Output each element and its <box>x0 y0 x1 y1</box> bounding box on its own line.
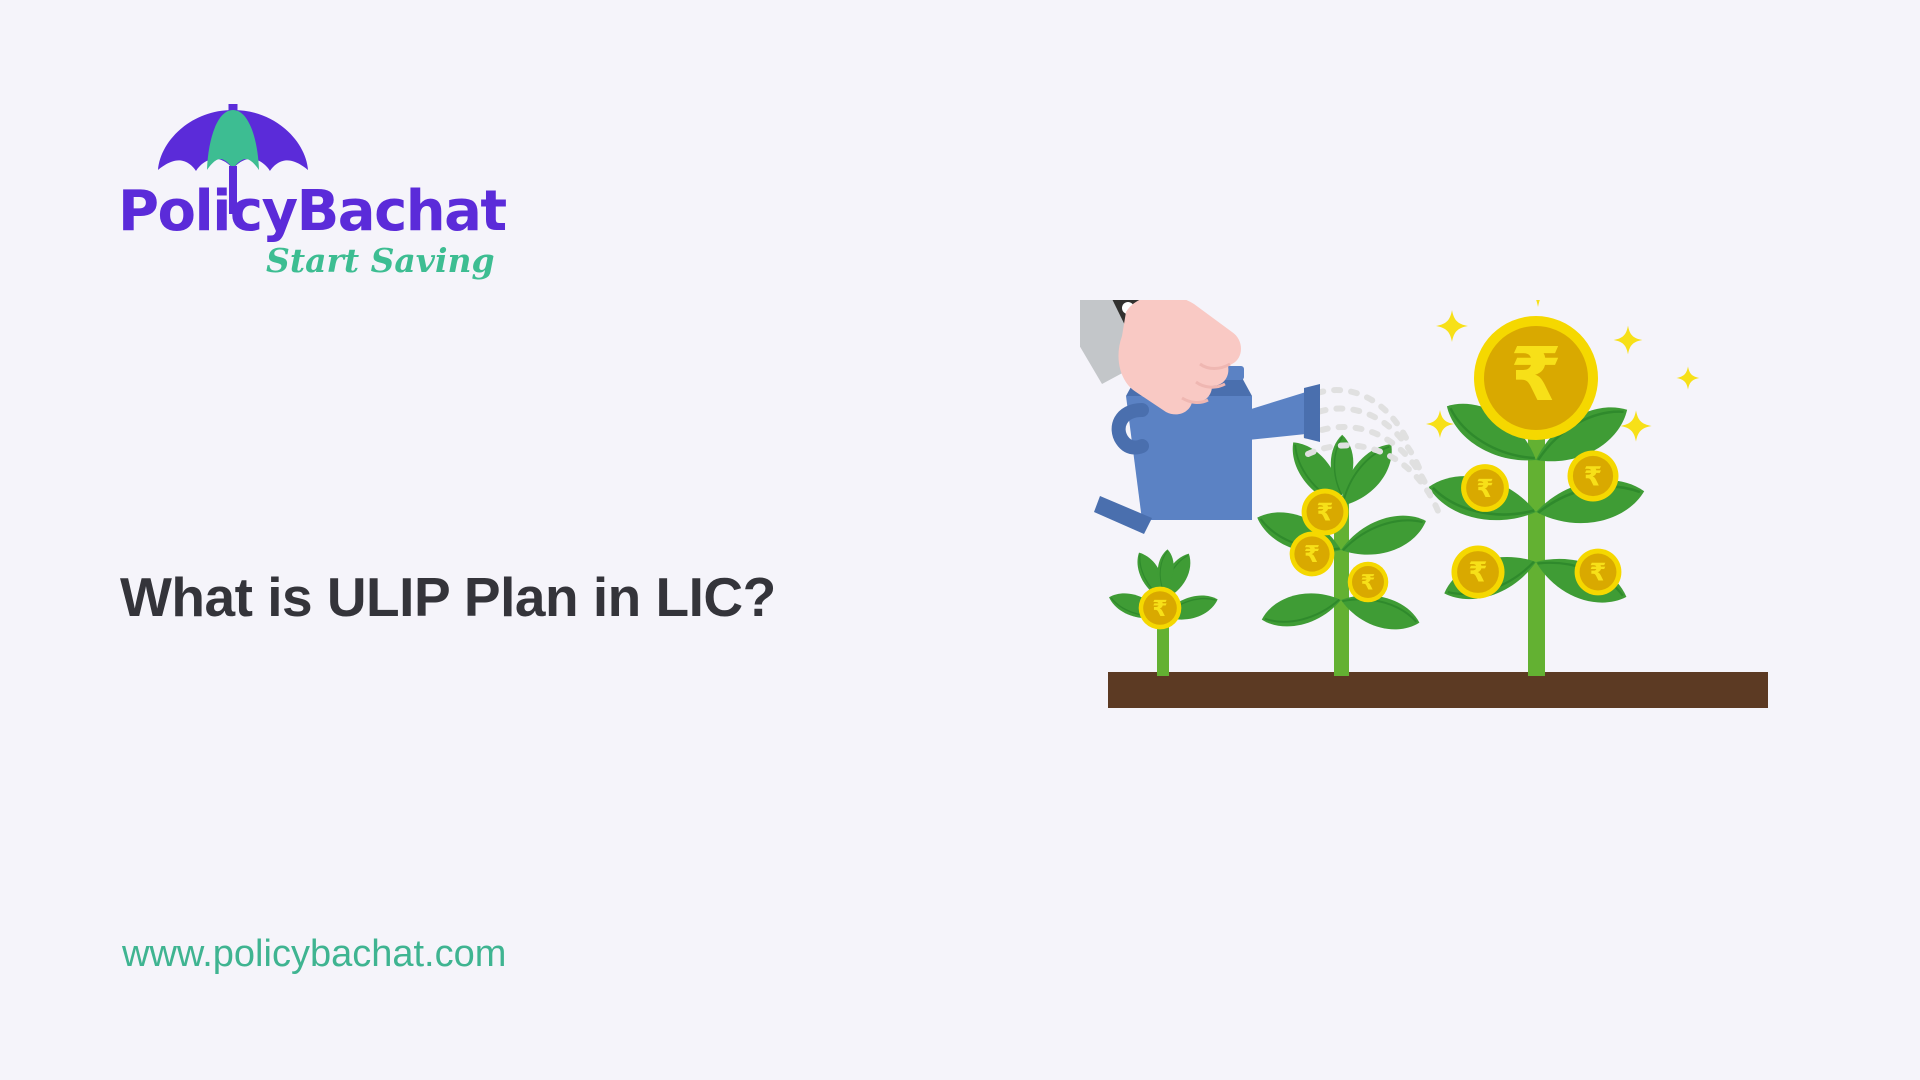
small-money-plant <box>1106 548 1221 676</box>
money-plant-watering-illustration: ₹ <box>1080 300 1800 880</box>
large-money-plant: ₹ <box>1424 316 1648 676</box>
poster-canvas: PolicyBachat Start Saving What is ULIP P… <box>0 0 1920 1080</box>
brand-tagline: Start Saving <box>266 244 495 277</box>
soil-bar <box>1108 672 1768 708</box>
brand-wordmark: PolicyBachat <box>118 184 506 240</box>
medium-money-plant <box>1252 433 1432 676</box>
page-title: What is ULIP Plan in LIC? <box>120 564 776 630</box>
large-rupee-coin: ₹ <box>1474 316 1598 440</box>
svg-text:₹: ₹ <box>1510 332 1562 418</box>
brand-logo[interactable]: PolicyBachat Start Saving <box>118 104 578 324</box>
website-url[interactable]: www.policybachat.com <box>122 935 506 973</box>
